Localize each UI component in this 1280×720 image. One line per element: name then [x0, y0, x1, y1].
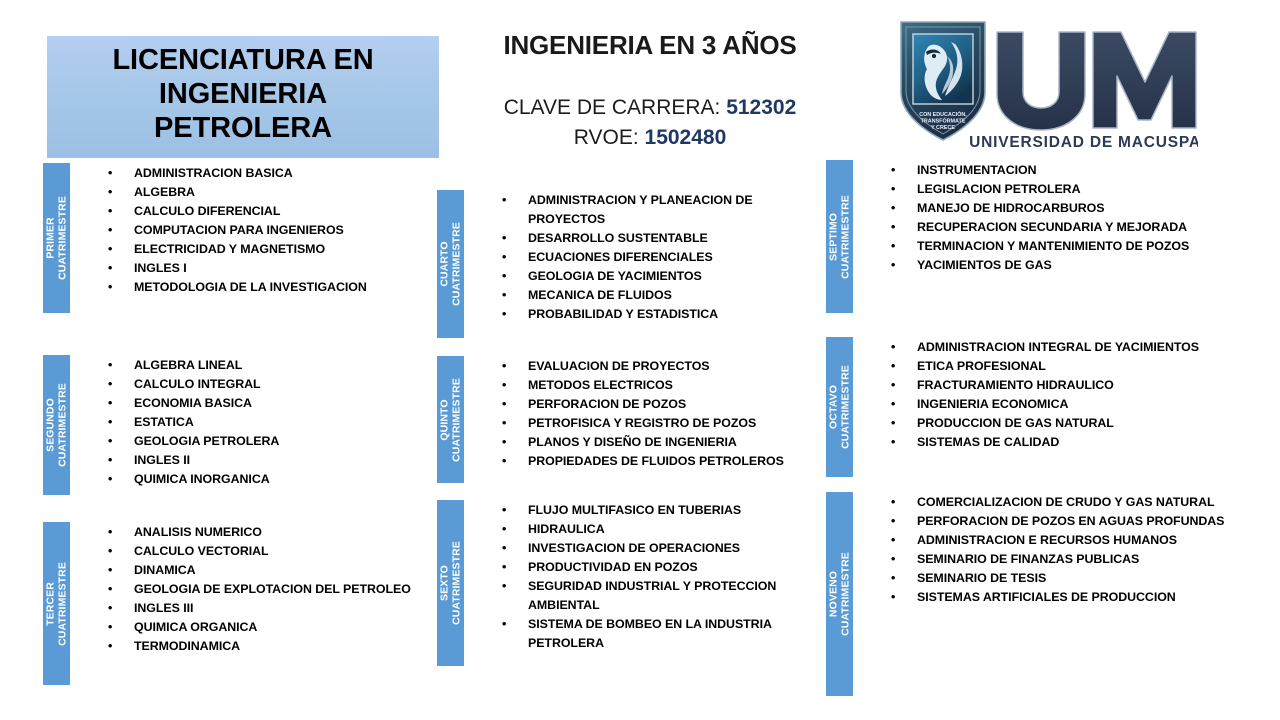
course-item: •SEMINARIO DE TESIS — [891, 569, 1226, 588]
clave-de-carrera-line: CLAVE DE CARRERA: 512302 — [455, 93, 845, 123]
course-item: •SISTEMA DE BOMBEO EN LA INDUSTRIA PETRO… — [502, 615, 832, 653]
bullet-icon: • — [891, 338, 895, 357]
course-item: •DINAMICA — [108, 561, 433, 580]
course-name: COMERCIALIZACION DE CRUDO Y GAS NATURAL — [917, 495, 1215, 509]
bullet-icon: • — [891, 161, 895, 180]
course-item: •PETROFISICA Y REGISTRO DE POZOS — [502, 414, 832, 433]
university-name: UNIVERSIDAD DE MACUSPANA — [969, 134, 1198, 151]
course-item: •TERMODINAMICA — [108, 637, 433, 656]
bullet-icon: • — [502, 248, 506, 267]
quarter-bar-q7: SEPTIMO CUATRIMESTRE — [826, 160, 853, 313]
course-item: •CALCULO VECTORIAL — [108, 542, 433, 561]
course-name: INGLES III — [134, 601, 193, 615]
course-list-q6: •FLUJO MULTIFASICO EN TUBERIAS•HIDRAULIC… — [464, 500, 832, 666]
course-item: •INSTRUMENTACION — [891, 161, 1226, 180]
course-item: •INGLES II — [108, 451, 433, 470]
bullet-icon: • — [108, 637, 112, 656]
course-item: •LEGISLACION PETROLERA — [891, 180, 1226, 199]
course-item: •SISTEMAS DE CALIDAD — [891, 433, 1226, 452]
career-codes: CLAVE DE CARRERA: 512302 RVOE: 1502480 — [455, 93, 845, 154]
course-item: •CALCULO DIFERENCIAL — [108, 202, 433, 221]
course-name: ADMINISTRACION Y PLANEACION DE PROYECTOS — [528, 193, 753, 226]
course-name: ADMINISTRACION BASICA — [134, 166, 293, 180]
course-name: PRODUCTIVIDAD EN POZOS — [528, 560, 698, 574]
bullet-icon: • — [502, 395, 506, 414]
quarter-label-q2: SEGUNDO CUATRIMESTRE — [45, 383, 69, 467]
course-name: PROBABILIDAD Y ESTADISTICA — [528, 307, 718, 321]
main-heading: INGENIERIA EN 3 AÑOS — [455, 30, 845, 61]
bullet-icon: • — [891, 433, 895, 452]
course-item: •GEOLOGIA DE YACIMIENTOS — [502, 267, 832, 286]
bullet-icon: • — [108, 599, 112, 618]
course-item: •INGLES I — [108, 259, 433, 278]
course-name: CALCULO VECTORIAL — [134, 544, 269, 558]
course-item: •PROBABILIDAD Y ESTADISTICA — [502, 305, 832, 324]
bullet-icon: • — [108, 278, 112, 297]
course-item: •ADMINISTRACION Y PLANEACION DE PROYECTO… — [502, 191, 832, 229]
course-item: •ECUACIONES DIFERENCIALES — [502, 248, 832, 267]
bullet-icon: • — [891, 531, 895, 550]
course-name: PLANOS Y DISEÑO DE INGENIERIA — [528, 435, 737, 449]
course-name: ALGEBRA — [134, 185, 195, 199]
course-name: SISTEMAS DE CALIDAD — [917, 435, 1059, 449]
course-name: ADMINISTRACION INTEGRAL DE YACIMIENTOS — [917, 340, 1199, 354]
course-name: ADMINISTRACION E RECURSOS HUMANOS — [917, 533, 1177, 547]
bullet-icon: • — [502, 305, 506, 324]
course-item: •DESARROLLO SUSTENTABLE — [502, 229, 832, 248]
course-name: TERMODINAMICA — [134, 639, 240, 653]
bullet-icon: • — [108, 394, 112, 413]
bullet-icon: • — [502, 191, 506, 210]
course-name: ESTATICA — [134, 415, 194, 429]
clave-label: CLAVE DE CARRERA: — [504, 96, 727, 119]
course-item: •PERFORACION DE POZOS EN AGUAS PROFUNDAS — [891, 512, 1226, 531]
course-item: •INGLES III — [108, 599, 433, 618]
bullet-icon: • — [502, 615, 506, 634]
course-item: •SEGURIDAD INDUSTRIAL Y PROTECCION AMBIE… — [502, 577, 832, 615]
bullet-icon: • — [891, 512, 895, 531]
quarter-label-q1: PRIMER CUATRIMESTRE — [45, 196, 69, 280]
course-name: SEMINARIO DE FINANZAS PUBLICAS — [917, 552, 1139, 566]
course-name: MANEJO DE HIDROCARBUROS — [917, 201, 1104, 215]
course-item: •RECUPERACION SECUNDARIA Y MEJORADA — [891, 218, 1226, 237]
bullet-icon: • — [502, 433, 506, 452]
course-name: COMPUTACION PARA INGENIEROS — [134, 223, 344, 237]
course-item: •GEOLOGIA DE EXPLOTACION DEL PETROLEO — [108, 580, 433, 599]
course-list-q7: •INSTRUMENTACION•LEGISLACION PETROLERA•M… — [853, 160, 1226, 313]
bullet-icon: • — [502, 267, 506, 286]
course-name: YACIMIENTOS DE GAS — [917, 258, 1052, 272]
course-item: •FRACTURAMIENTO HIDRAULICO — [891, 376, 1226, 395]
course-name: CALCULO INTEGRAL — [134, 377, 261, 391]
course-item: •ALGEBRA LINEAL — [108, 356, 433, 375]
quarter-block-q6: SEXTO CUATRIMESTRE •FLUJO MULTIFASICO EN… — [437, 500, 832, 666]
course-name: ECONOMIA BASICA — [134, 396, 252, 410]
quarter-block-q9: NOVENO CUATRIMESTRE •COMERCIALIZACION DE… — [826, 492, 1226, 696]
quarter-label-q6: SEXTO CUATRIMESTRE — [439, 541, 463, 625]
course-name: GEOLOGIA PETROLERA — [134, 434, 279, 448]
quarter-label-q4: CUARTO CUATRIMESTRE — [439, 222, 463, 306]
course-name: SISTEMAS ARTIFICIALES DE PRODUCCION — [917, 590, 1176, 604]
course-list-q5: •EVALUACION DE PROYECTOS•METODOS ELECTRI… — [464, 356, 832, 483]
quarter-bar-q5: QUINTO CUATRIMESTRE — [437, 356, 464, 483]
shield-motto-line3: Y CRECE — [931, 125, 955, 131]
bullet-icon: • — [891, 414, 895, 433]
course-name: RECUPERACION SECUNDARIA Y MEJORADA — [917, 220, 1187, 234]
um-monogram: UNIVERSIDAD DE MACUSPANA — [969, 32, 1198, 151]
quarter-label-q5: QUINTO CUATRIMESTRE — [439, 378, 463, 462]
bullet-icon: • — [108, 164, 112, 183]
course-name: INGLES II — [134, 453, 190, 467]
course-item: •GEOLOGIA PETROLERA — [108, 432, 433, 451]
rvoe-label: RVOE: — [574, 126, 645, 149]
course-item: •ADMINISTRACION INTEGRAL DE YACIMIENTOS — [891, 338, 1226, 357]
course-item: •YACIMIENTOS DE GAS — [891, 256, 1226, 275]
course-name: INGENIERIA ECONOMICA — [917, 397, 1068, 411]
bullet-icon: • — [502, 577, 506, 596]
bullet-icon: • — [108, 523, 112, 542]
course-name: METODOLOGIA DE LA INVESTIGACION — [134, 280, 367, 294]
bullet-icon: • — [502, 229, 506, 248]
course-name: METODOS ELECTRICOS — [528, 378, 673, 392]
quarter-bar-q4: CUARTO CUATRIMESTRE — [437, 190, 464, 338]
bullet-icon: • — [891, 550, 895, 569]
quarter-block-q1: PRIMER CUATRIMESTRE •ADMINISTRACION BASI… — [43, 163, 433, 313]
course-name: PETROFISICA Y REGISTRO DE POZOS — [528, 416, 756, 430]
bullet-icon: • — [502, 520, 506, 539]
bullet-icon: • — [108, 413, 112, 432]
quarter-block-q3: TERCER CUATRIMESTRE •ANALISIS NUMERICO•C… — [43, 522, 433, 685]
course-item: •EVALUACION DE PROYECTOS — [502, 357, 832, 376]
quarter-block-q5: QUINTO CUATRIMESTRE •EVALUACION DE PROYE… — [437, 356, 832, 483]
course-name: EVALUACION DE PROYECTOS — [528, 359, 710, 373]
bullet-icon: • — [891, 569, 895, 588]
bullet-icon: • — [108, 470, 112, 489]
bullet-icon: • — [108, 240, 112, 259]
quarter-bar-q1: PRIMER CUATRIMESTRE — [43, 163, 70, 313]
quarter-block-q7: SEPTIMO CUATRIMESTRE •INSTRUMENTACION•LE… — [826, 160, 1226, 313]
course-name: ETICA PROFESIONAL — [917, 359, 1046, 373]
shield-motto-line1: CON EDUCACIÓN, — [919, 110, 967, 118]
quarter-bar-q9: NOVENO CUATRIMESTRE — [826, 492, 853, 696]
course-item: •SISTEMAS ARTIFICIALES DE PRODUCCION — [891, 588, 1226, 607]
course-item: •ELECTRICIDAD Y MAGNETISMO — [108, 240, 433, 259]
bullet-icon: • — [891, 256, 895, 275]
course-name: PERFORACION DE POZOS EN AGUAS PROFUNDAS — [917, 514, 1224, 528]
quarter-label-q3: TERCER CUATRIMESTRE — [45, 562, 69, 646]
course-name: PROPIEDADES DE FLUIDOS PETROLEROS — [528, 454, 784, 468]
course-item: •MANEJO DE HIDROCARBUROS — [891, 199, 1226, 218]
rvoe-value: 1502480 — [645, 126, 727, 149]
course-item: •HIDRAULICA — [502, 520, 832, 539]
course-item: •ADMINISTRACION E RECURSOS HUMANOS — [891, 531, 1226, 550]
course-list-q1: •ADMINISTRACION BASICA•ALGEBRA•CALCULO D… — [70, 163, 433, 313]
quarter-label-q7: SEPTIMO CUATRIMESTRE — [828, 195, 852, 279]
bullet-icon: • — [502, 414, 506, 433]
bullet-icon: • — [891, 357, 895, 376]
quarter-label-q8: OCTAVO CUATRIMESTRE — [828, 365, 852, 449]
course-item: •ESTATICA — [108, 413, 433, 432]
program-title-box: LICENCIATURA EN INGENIERIA PETROLERA — [47, 36, 439, 158]
quarter-block-q8: OCTAVO CUATRIMESTRE •ADMINISTRACION INTE… — [826, 337, 1226, 477]
bullet-icon: • — [891, 588, 895, 607]
um-logo: CON EDUCACIÓN, TRANSFÓRMATE Y CRECE UNIV… — [893, 16, 1198, 151]
bullet-icon: • — [108, 580, 112, 599]
course-name: QUIMICA ORGANICA — [134, 620, 257, 634]
course-item: •QUIMICA INORGANICA — [108, 470, 433, 489]
quarter-bar-q2: SEGUNDO CUATRIMESTRE — [43, 355, 70, 495]
clave-value: 512302 — [726, 96, 796, 119]
rvoe-line: RVOE: 1502480 — [455, 123, 845, 153]
course-item: •PRODUCCION DE GAS NATURAL — [891, 414, 1226, 433]
quarter-block-q2: SEGUNDO CUATRIMESTRE •ALGEBRA LINEAL•CAL… — [43, 355, 433, 495]
quarter-label-q9: NOVENO CUATRIMESTRE — [828, 552, 852, 636]
course-name: ECUACIONES DIFERENCIALES — [528, 250, 713, 264]
course-name: PERFORACION DE POZOS — [528, 397, 686, 411]
course-item: •QUIMICA ORGANICA — [108, 618, 433, 637]
course-item: •CALCULO INTEGRAL — [108, 375, 433, 394]
quarter-bar-q3: TERCER CUATRIMESTRE — [43, 522, 70, 685]
bullet-icon: • — [502, 558, 506, 577]
course-list-q4: •ADMINISTRACION Y PLANEACION DE PROYECTO… — [464, 190, 832, 338]
course-name: INSTRUMENTACION — [917, 163, 1036, 177]
bullet-icon: • — [108, 561, 112, 580]
bullet-icon: • — [891, 493, 895, 512]
quarter-bar-q6: SEXTO CUATRIMESTRE — [437, 500, 464, 666]
course-name: FRACTURAMIENTO HIDRAULICO — [917, 378, 1114, 392]
bullet-icon: • — [108, 356, 112, 375]
shield-motto-line2: TRANSFÓRMATE — [921, 117, 966, 125]
bullet-icon: • — [108, 432, 112, 451]
course-name: INVESTIGACION DE OPERACIONES — [528, 541, 740, 555]
quarter-block-q4: CUARTO CUATRIMESTRE •ADMINISTRACION Y PL… — [437, 190, 832, 338]
bullet-icon: • — [891, 199, 895, 218]
bullet-icon: • — [108, 618, 112, 637]
course-item: •COMERCIALIZACION DE CRUDO Y GAS NATURAL — [891, 493, 1226, 512]
course-item: •FLUJO MULTIFASICO EN TUBERIAS — [502, 501, 832, 520]
course-item: •ETICA PROFESIONAL — [891, 357, 1226, 376]
course-name: CALCULO DIFERENCIAL — [134, 204, 280, 218]
course-list-q3: •ANALISIS NUMERICO•CALCULO VECTORIAL•DIN… — [70, 522, 433, 685]
course-name: DESARROLLO SUSTENTABLE — [528, 231, 708, 245]
course-item: •ANALISIS NUMERICO — [108, 523, 433, 542]
course-item: •PERFORACION DE POZOS — [502, 395, 832, 414]
course-name: QUIMICA INORGANICA — [134, 472, 270, 486]
bullet-icon: • — [108, 202, 112, 221]
course-item: •ECONOMIA BASICA — [108, 394, 433, 413]
program-title: LICENCIATURA EN INGENIERIA PETROLERA — [112, 44, 373, 146]
shield-icon: CON EDUCACIÓN, TRANSFÓRMATE Y CRECE — [901, 22, 985, 140]
bullet-icon: • — [108, 375, 112, 394]
course-name: DINAMICA — [134, 563, 196, 577]
course-name: GEOLOGIA DE YACIMIENTOS — [528, 269, 702, 283]
bullet-icon: • — [891, 376, 895, 395]
course-item: •MECANICA DE FLUIDOS — [502, 286, 832, 305]
bullet-icon: • — [891, 395, 895, 414]
um-logo-svg: CON EDUCACIÓN, TRANSFÓRMATE Y CRECE UNIV… — [893, 16, 1198, 151]
course-name: LEGISLACION PETROLERA — [917, 182, 1080, 196]
course-list-q8: •ADMINISTRACION INTEGRAL DE YACIMIENTOS•… — [853, 337, 1226, 477]
course-item: •PRODUCTIVIDAD EN POZOS — [502, 558, 832, 577]
course-name: ELECTRICIDAD Y MAGNETISMO — [134, 242, 325, 256]
bullet-icon: • — [891, 218, 895, 237]
course-item: •INGENIERIA ECONOMICA — [891, 395, 1226, 414]
bullet-icon: • — [502, 376, 506, 395]
course-item: •ADMINISTRACION BASICA — [108, 164, 433, 183]
bullet-icon: • — [108, 259, 112, 278]
course-list-q2: •ALGEBRA LINEAL•CALCULO INTEGRAL•ECONOMI… — [70, 355, 433, 495]
bullet-icon: • — [502, 286, 506, 305]
bullet-icon: • — [108, 542, 112, 561]
quarter-bar-q8: OCTAVO CUATRIMESTRE — [826, 337, 853, 477]
course-name: ANALISIS NUMERICO — [134, 525, 262, 539]
course-list-q9: •COMERCIALIZACION DE CRUDO Y GAS NATURAL… — [853, 492, 1226, 696]
course-name: SEGURIDAD INDUSTRIAL Y PROTECCION AMBIEN… — [528, 579, 776, 612]
course-item: •TERMINACION Y MANTENIMIENTO DE POZOS — [891, 237, 1226, 256]
course-item: •PLANOS Y DISEÑO DE INGENIERIA — [502, 433, 832, 452]
course-name: FLUJO MULTIFASICO EN TUBERIAS — [528, 503, 741, 517]
bullet-icon: • — [108, 451, 112, 470]
course-item: •METODOS ELECTRICOS — [502, 376, 832, 395]
bullet-icon: • — [891, 180, 895, 199]
bullet-icon: • — [502, 452, 506, 471]
bullet-icon: • — [108, 221, 112, 240]
course-name: SEMINARIO DE TESIS — [917, 571, 1046, 585]
course-item: •METODOLOGIA DE LA INVESTIGACION — [108, 278, 433, 297]
course-item: •SEMINARIO DE FINANZAS PUBLICAS — [891, 550, 1226, 569]
bullet-icon: • — [891, 237, 895, 256]
course-item: •INVESTIGACION DE OPERACIONES — [502, 539, 832, 558]
course-name: ALGEBRA LINEAL — [134, 358, 242, 372]
bullet-icon: • — [502, 501, 506, 520]
course-item: •PROPIEDADES DE FLUIDOS PETROLEROS — [502, 452, 832, 471]
course-name: PRODUCCION DE GAS NATURAL — [917, 416, 1114, 430]
center-heading: INGENIERIA EN 3 AÑOS — [455, 30, 845, 61]
course-name: INGLES I — [134, 261, 187, 275]
course-name: GEOLOGIA DE EXPLOTACION DEL PETROLEO — [134, 582, 411, 596]
course-name: HIDRAULICA — [528, 522, 605, 536]
bullet-icon: • — [108, 183, 112, 202]
course-name: SISTEMA DE BOMBEO EN LA INDUSTRIA PETROL… — [528, 617, 771, 650]
bullet-icon: • — [502, 357, 506, 376]
course-name: MECANICA DE FLUIDOS — [528, 288, 672, 302]
course-item: •ALGEBRA — [108, 183, 433, 202]
course-item: •COMPUTACION PARA INGENIEROS — [108, 221, 433, 240]
course-name: TERMINACION Y MANTENIMIENTO DE POZOS — [917, 239, 1189, 253]
bullet-icon: • — [502, 539, 506, 558]
